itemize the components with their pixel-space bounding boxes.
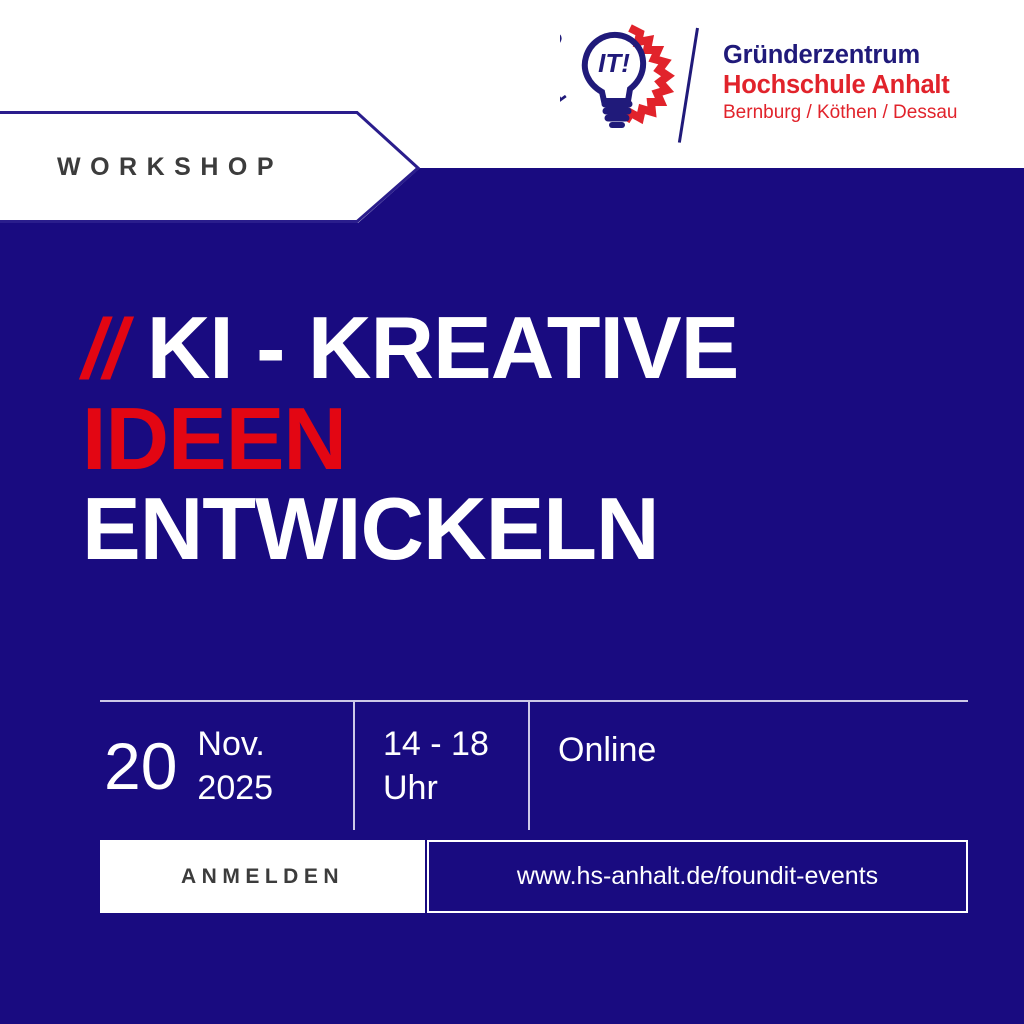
event-poster: FOUND IT! Gründerzentrum Hochschule Anha…: [0, 0, 1024, 1024]
event-url-button[interactable]: www.hs-anhalt.de/foundit-events: [427, 840, 968, 913]
info-row: 20 Nov. 2025 14 - 18 Uhr Online: [100, 702, 968, 830]
red-double-slash-icon: //: [82, 307, 125, 391]
headline-line-3: ENTWICKELN: [82, 487, 962, 571]
event-location: Online: [558, 728, 656, 772]
register-button[interactable]: ANMELDEN: [100, 840, 425, 913]
logo-line-grunderzentrum: Gründerzentrum: [723, 40, 1003, 70]
event-time: 14 - 18 Uhr: [383, 722, 489, 810]
logo-wordmark: Gründerzentrum Hochschule Anhalt Bernbur…: [723, 40, 1003, 126]
headline-line-1-row: // KI - KREATIVE: [82, 306, 962, 391]
event-time-unit: Uhr: [383, 769, 438, 807]
info-cell-date: 20 Nov. 2025: [100, 702, 353, 830]
found-it-lightbulb-gear-logo: FOUND IT!: [560, 14, 682, 134]
event-year: 2025: [197, 769, 273, 807]
headline-line-1: KI - KREATIVE: [147, 306, 739, 390]
svg-text:IT!: IT!: [598, 48, 630, 78]
event-time-range: 14 - 18: [383, 725, 489, 763]
logo-line-campuses: Bernburg / Köthen / Dessau: [723, 100, 1003, 126]
info-cell-time: 14 - 18 Uhr: [353, 702, 528, 830]
headline-block: // KI - KREATIVE IDEEN ENTWICKELN: [82, 306, 962, 571]
logo-line-hochschule-anhalt: Hochschule Anhalt: [723, 70, 1003, 100]
info-cell-location: Online: [528, 702, 968, 830]
workshop-tab-label: WORKSHOP: [57, 155, 283, 180]
logo-lockup: FOUND IT! Gründerzentrum Hochschule Anha…: [560, 14, 1000, 150]
event-day: 20: [104, 733, 177, 799]
cta-row: ANMELDEN www.hs-anhalt.de/foundit-events: [100, 840, 968, 913]
workshop-tab: WORKSHOP: [0, 111, 420, 223]
svg-text:FOUND: FOUND: [560, 28, 571, 108]
event-month: Nov.: [197, 725, 264, 763]
headline-line-2: IDEEN: [82, 397, 962, 481]
event-month-year: Nov. 2025: [197, 722, 273, 810]
